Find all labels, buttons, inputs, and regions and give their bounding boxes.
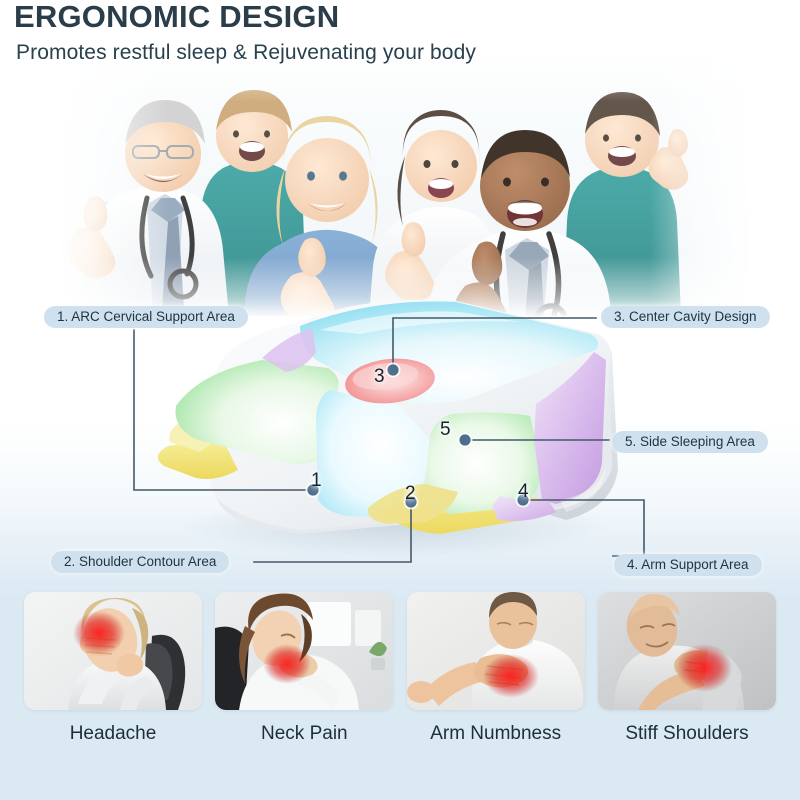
zone-number-5: 5: [440, 419, 451, 441]
medical-team-photo: [55, 48, 755, 316]
page-title: ERGONOMIC DESIGN: [14, 0, 784, 34]
infographic-page: ERGONOMIC DESIGN Promotes restful sleep …: [0, 0, 800, 800]
pain-photo-headache: [24, 592, 202, 710]
zone-number-2: 2: [405, 483, 416, 505]
callout-label-shoulder-contour-area: 2. Shoulder Contour Area: [51, 551, 229, 573]
zone-number-4: 4: [518, 481, 529, 503]
pain-card-stiff-shoulders: Stiff Shoulders: [598, 592, 776, 800]
callout-label-arm-support-area: 4. Arm Support Area: [614, 554, 762, 576]
pain-caption-neck-pain: Neck Pain: [261, 723, 348, 745]
pain-caption-headache: Headache: [70, 723, 157, 745]
pain-card-neck-pain: Neck Pain: [215, 592, 393, 800]
page-subtitle: Promotes restful sleep & Rejuvenating yo…: [16, 40, 784, 65]
pain-caption-arm-numbness: Arm Numbness: [430, 723, 561, 745]
pain-point-cards: Headache: [0, 592, 800, 800]
callout-label-side-sleeping-area: 5. Side Sleeping Area: [612, 431, 768, 453]
pain-card-headache: Headache: [24, 592, 202, 800]
callout-label-center-cavity-design: 3. Center Cavity Design: [601, 306, 770, 328]
header: ERGONOMIC DESIGN Promotes restful sleep …: [14, 0, 784, 65]
zone-number-1: 1: [311, 470, 322, 492]
zone-number-3: 3: [374, 366, 385, 388]
callout-label-arc-cervical-support-area: 1. ARC Cervical Support Area: [44, 306, 248, 328]
pain-caption-stiff-shoulders: Stiff Shoulders: [625, 723, 748, 745]
pain-photo-stiff-shoulders: [598, 592, 776, 710]
pain-photo-neck-pain: [215, 592, 393, 710]
pain-card-arm-numbness: Arm Numbness: [407, 592, 585, 800]
pain-photo-arm-numbness: [407, 592, 585, 710]
